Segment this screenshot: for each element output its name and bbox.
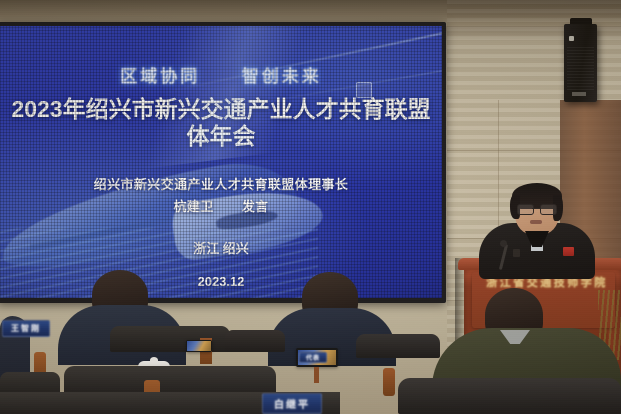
nameplate-left: 王智刚 bbox=[2, 320, 50, 337]
slide-speaker-name: 杭建卫 bbox=[173, 199, 213, 214]
speaker-grille bbox=[567, 46, 594, 90]
slide-place: 浙江 绍兴 bbox=[0, 238, 442, 257]
led-screen: 区域协同 智创未来 2023年绍兴市新兴交通产业人才共育联盟体年会 绍兴市新兴交… bbox=[0, 26, 442, 298]
slide-banner-right: 智创未来 bbox=[242, 62, 322, 87]
slide-banner: 区域协同 智创未来 bbox=[0, 62, 442, 87]
chair-back bbox=[225, 330, 285, 352]
chair-back bbox=[110, 326, 230, 352]
slide-subtitle-speaker: 杭建卫 发言 bbox=[0, 196, 442, 215]
slide-banner-left: 区域协同 bbox=[120, 62, 200, 87]
microphone-capsule bbox=[500, 240, 507, 247]
chair-back bbox=[356, 334, 440, 358]
eyeglasses-bridge bbox=[532, 208, 540, 209]
presenter-lapel-pin bbox=[513, 249, 520, 257]
slide-title: 2023年绍兴市新兴交通产业人才共育联盟体年会 bbox=[6, 96, 436, 150]
nameplate-small: 代表 bbox=[299, 352, 327, 363]
desk-monitor-screen bbox=[187, 341, 211, 351]
slide-content: 区域协同 智创未来 2023年绍兴市新兴交通产业人才共育联盟体年会 绍兴市新兴交… bbox=[0, 26, 442, 298]
teacup-knob bbox=[150, 357, 158, 363]
conference-photo: 区域协同 智创未来 2023年绍兴市新兴交通产业人才共育联盟体年会 绍兴市新兴交… bbox=[0, 0, 621, 414]
chair-back bbox=[398, 378, 621, 414]
slide-subtitle-role: 绍兴市新兴交通产业人才共育联盟体理事长 bbox=[0, 174, 442, 193]
speaker-brand-label bbox=[572, 92, 586, 96]
nameplate-center: 白继平 bbox=[262, 393, 322, 414]
slide-speaker-action: 发言 bbox=[242, 199, 269, 214]
desk-monitor-stand bbox=[314, 367, 319, 383]
presenter-mouth bbox=[530, 220, 542, 224]
speaker-indicator-light bbox=[569, 36, 574, 41]
presenter-lapel-badge bbox=[563, 247, 574, 256]
slide-date: 2023.12 bbox=[0, 274, 442, 289]
desk-wood-post bbox=[383, 368, 395, 396]
